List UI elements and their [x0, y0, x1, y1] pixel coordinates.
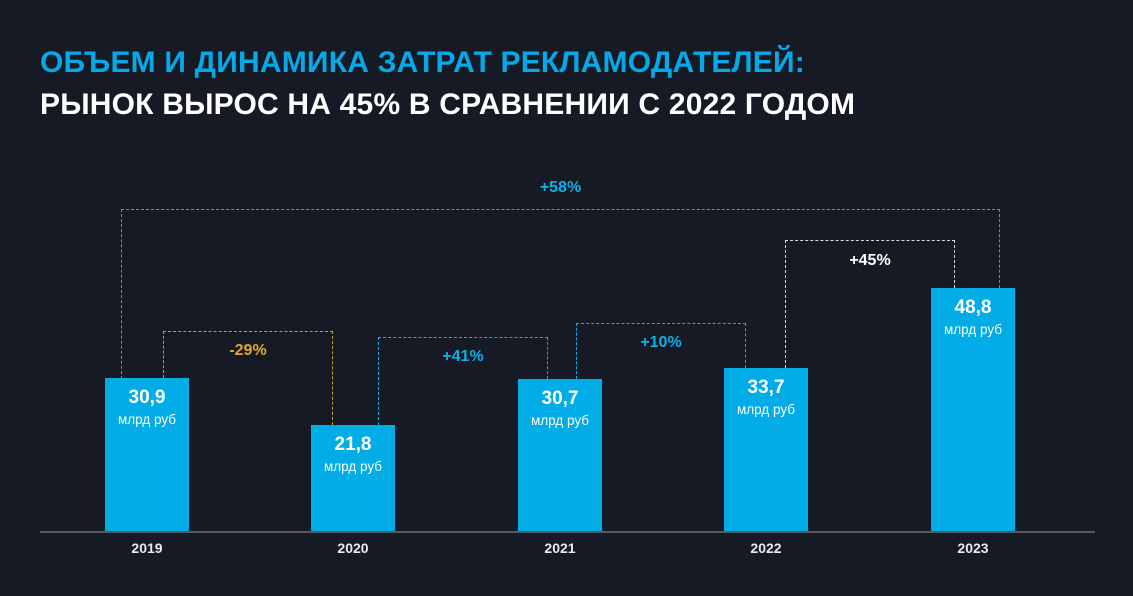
bracket-top-line — [378, 337, 548, 338]
bracket-top-line — [121, 209, 1000, 210]
bracket-left-line — [121, 209, 122, 379]
annotation-label-45: +45% — [785, 252, 955, 270]
bar-unit-2020: млрд руб — [311, 457, 395, 476]
bar-unit-2021: млрд руб — [518, 411, 602, 430]
bar-label-group: 30,9 млрд руб — [105, 386, 189, 429]
x-tick-2020: 2020 — [311, 540, 395, 556]
bar-value-2022: 33,7 — [724, 376, 808, 400]
bar-label-group: 33,7 млрд руб — [724, 376, 808, 419]
x-tick-2021: 2021 — [518, 540, 602, 556]
x-axis-line — [40, 531, 1095, 533]
bar-value-2023: 48,8 — [931, 296, 1015, 320]
slide-root: ОБЪЕМ И ДИНАМИКА ЗАТРАТ РЕКЛАМОДАТЕЛЕЙ: … — [0, 0, 1133, 596]
bracket-top-line — [163, 331, 333, 332]
annotation-bracket-10: +10% — [576, 323, 746, 379]
bar-2023[interactable]: 48,8 млрд руб — [931, 288, 1015, 531]
bar-value-2021: 30,7 — [518, 387, 602, 411]
annotation-label-10: +10% — [576, 334, 746, 352]
bar-label-group: 48,8 млрд руб — [931, 296, 1015, 339]
bar-label-group: 21,8 млрд руб — [311, 433, 395, 476]
bracket-top-line — [785, 240, 955, 241]
x-tick-2023: 2023 — [931, 540, 1015, 556]
x-tick-2019: 2019 — [105, 540, 189, 556]
bar-2019[interactable]: 30,9 млрд руб — [105, 378, 189, 531]
bar-2022[interactable]: 33,7 млрд руб — [724, 368, 808, 531]
bar-value-2019: 30,9 — [105, 386, 189, 410]
bracket-top-line — [576, 323, 746, 324]
bar-label-group: 30,7 млрд руб — [518, 387, 602, 430]
annotation-label-29: -29% — [163, 342, 333, 360]
bar-value-2020: 21,8 — [311, 433, 395, 457]
annotation-bracket-45: +45% — [785, 240, 955, 368]
bar-chart: +58% +45% -29% +41% +10% — [0, 0, 1133, 596]
x-tick-2022: 2022 — [724, 540, 808, 556]
bar-unit-2023: млрд руб — [931, 320, 1015, 339]
bar-2020[interactable]: 21,8 млрд руб — [311, 425, 395, 531]
bar-unit-2019: млрд руб — [105, 410, 189, 429]
bar-2021[interactable]: 30,7 млрд руб — [518, 379, 602, 531]
bar-unit-2022: млрд руб — [724, 400, 808, 419]
bracket-right-line — [999, 209, 1000, 288]
annotation-label-58: +58% — [121, 179, 1000, 197]
annotation-label-41: +41% — [378, 348, 548, 366]
